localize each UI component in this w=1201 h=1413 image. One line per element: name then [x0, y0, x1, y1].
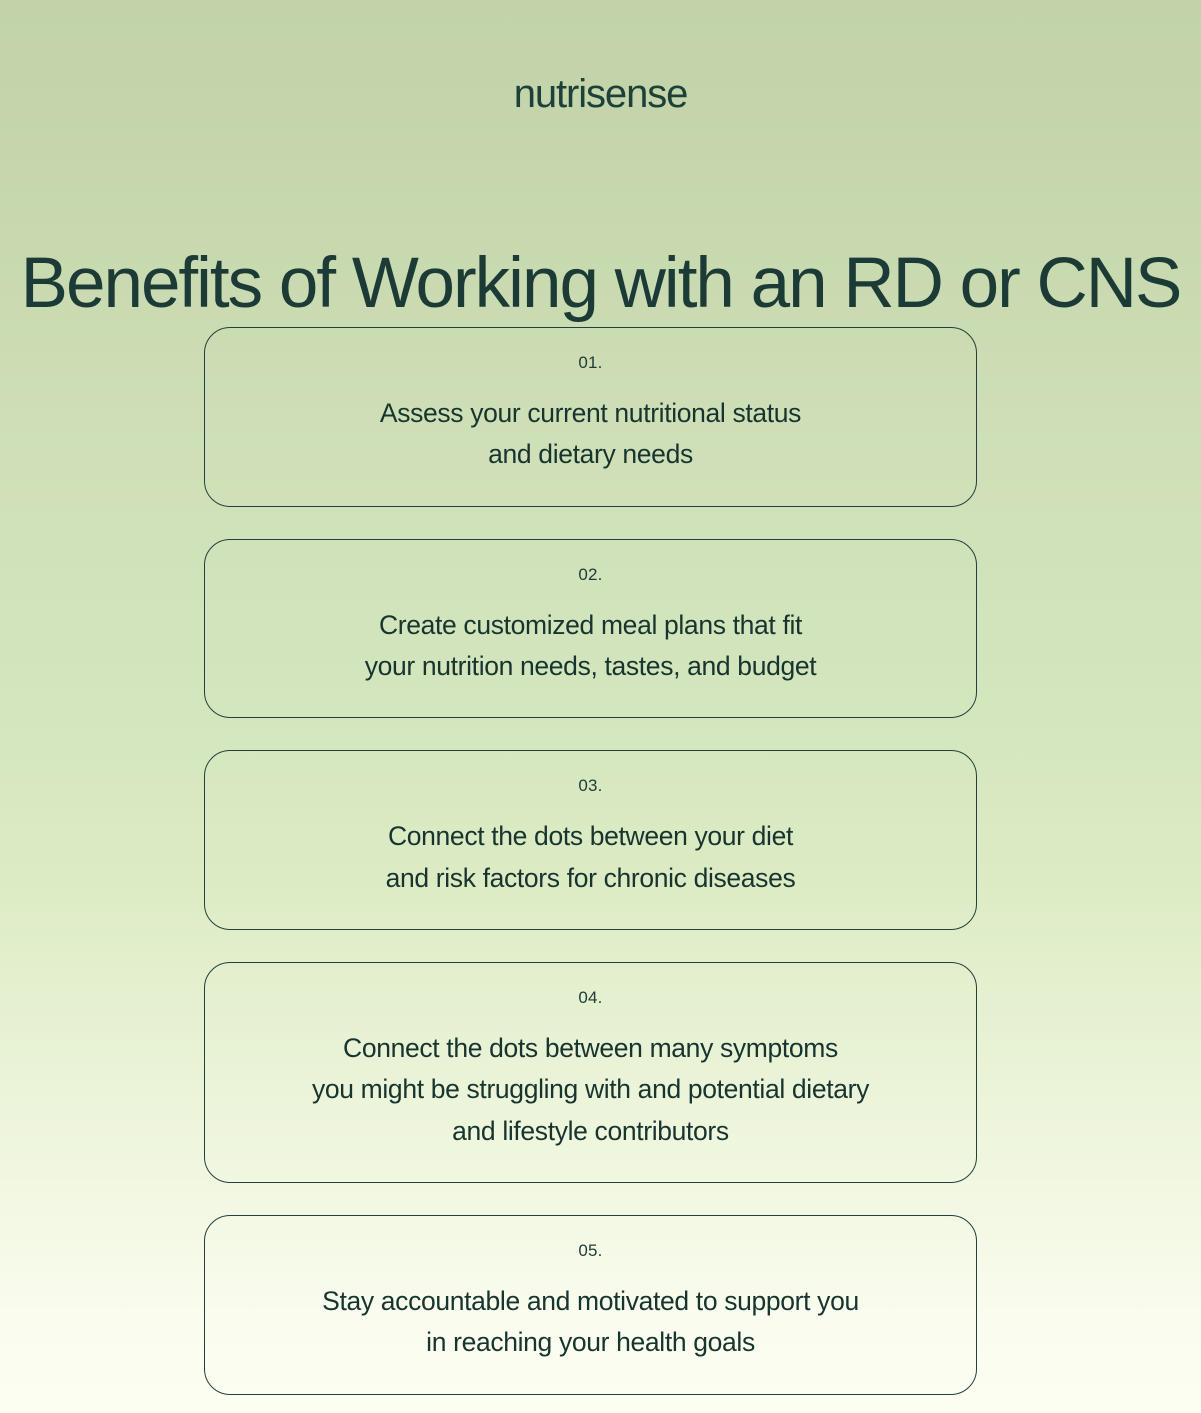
- brand-header: nutrisense: [0, 74, 1201, 114]
- benefit-card-01: 01. Assess your current nutritional stat…: [204, 327, 977, 507]
- benefit-text-05: Stay accountable and motivated to suppor…: [322, 1281, 859, 1364]
- benefit-number-05: 05.: [578, 1242, 602, 1259]
- benefit-card-04: 04. Connect the dots between many sympto…: [204, 962, 977, 1183]
- benefits-card-list: 01. Assess your current nutritional stat…: [204, 327, 977, 1395]
- page-title: Benefits of Working with an RD or CNS: [0, 244, 1201, 324]
- benefit-text-01: Assess your current nutritional status a…: [380, 393, 801, 476]
- benefit-number-01: 01.: [578, 354, 602, 371]
- benefit-text-02: Create customized meal plans that fit yo…: [365, 605, 817, 688]
- benefit-number-04: 04.: [578, 989, 602, 1006]
- infographic-page: nutrisense Benefits of Working with an R…: [0, 0, 1201, 1413]
- nutrisense-logo: nutrisense: [514, 74, 688, 114]
- benefit-number-03: 03.: [578, 777, 602, 794]
- benefit-text-04: Connect the dots between many symptoms y…: [312, 1028, 869, 1152]
- benefit-number-02: 02.: [578, 566, 602, 583]
- benefit-card-02: 02. Create customized meal plans that fi…: [204, 539, 977, 719]
- benefit-card-05: 05. Stay accountable and motivated to su…: [204, 1215, 977, 1395]
- benefit-text-03: Connect the dots between your diet and r…: [386, 816, 796, 899]
- benefit-card-03: 03. Connect the dots between your diet a…: [204, 750, 977, 930]
